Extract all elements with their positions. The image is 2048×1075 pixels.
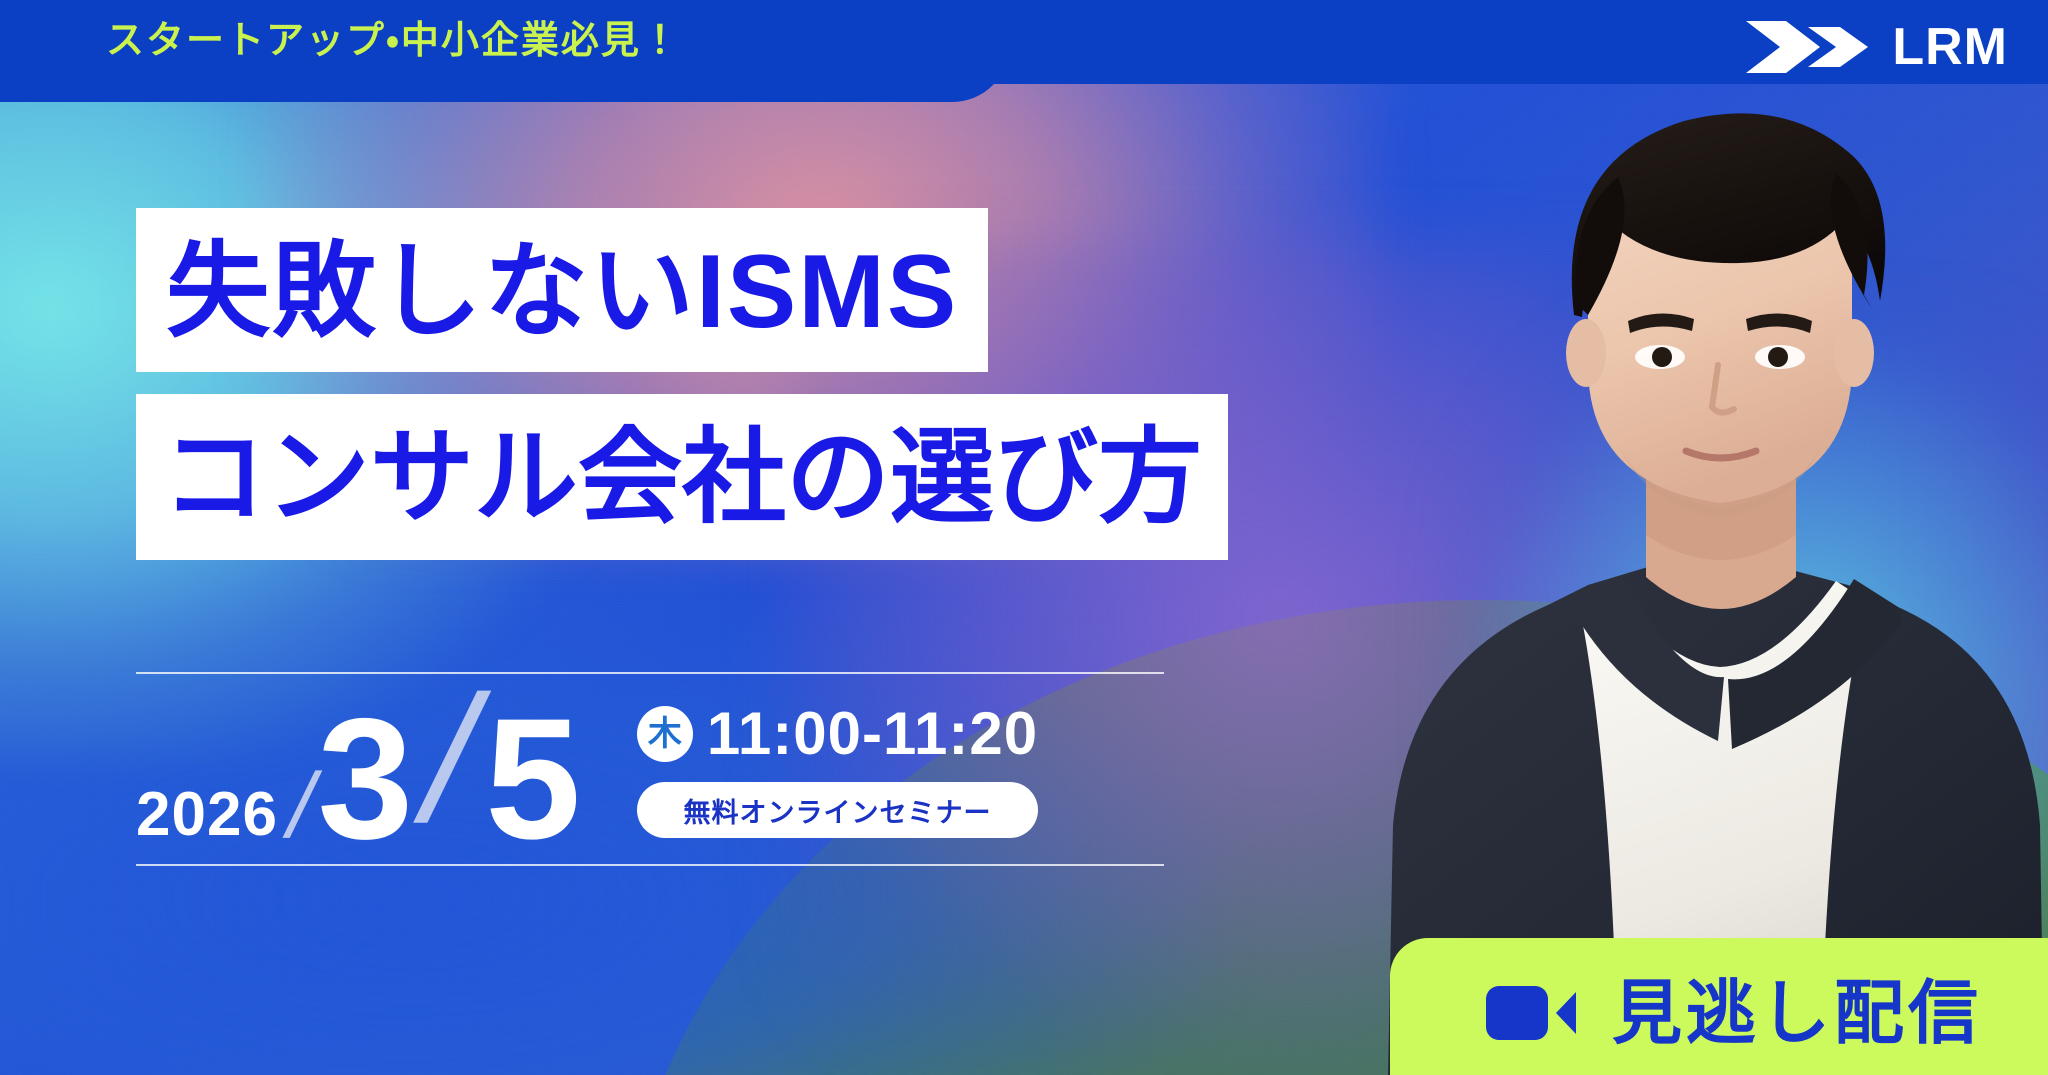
double-chevron-right-icon xyxy=(1742,21,1874,73)
eyebrow-text: スタートアップ・中小企業必見！ xyxy=(106,22,681,60)
date-day: 5 xyxy=(485,700,579,864)
replay-badge: 見逃し配信 xyxy=(1390,938,2048,1075)
date-year: 2026 xyxy=(136,784,278,864)
time-column: 木 11:00-11:20 無料オンラインセミナー xyxy=(637,704,1038,864)
date-time-block: 2026 / 3 / 5 木 11:00-11:20 無料オンラインセミナー xyxy=(136,672,1164,866)
time-range: 11:00-11:20 xyxy=(707,704,1038,764)
time-row: 木 11:00-11:20 xyxy=(637,704,1038,764)
title-line-2: コンサル会社の選び方 xyxy=(136,394,1228,560)
webinar-banner: スタートアップ・中小企業必見！ LRM 失敗しないISMS コンサル会社の選び方… xyxy=(0,0,2048,1075)
free-seminar-pill: 無料オンラインセミナー xyxy=(637,782,1038,838)
eyebrow-badge: スタートアップ・中小企業必見！ xyxy=(0,0,1010,102)
title-block: 失敗しないISMS コンサル会社の選び方 xyxy=(0,208,1228,560)
title-line-1: 失敗しないISMS xyxy=(136,208,988,372)
lrm-logo[interactable]: LRM xyxy=(1742,18,2008,76)
speaker-portrait xyxy=(1288,65,2048,1075)
replay-label: 見逃し配信 xyxy=(1612,978,1982,1048)
divider-bottom xyxy=(136,864,1164,866)
date-row: 2026 / 3 / 5 木 11:00-11:20 無料オンラインセミナー xyxy=(136,674,1164,864)
day-of-week-badge: 木 xyxy=(637,706,693,762)
video-camera-icon xyxy=(1486,982,1578,1044)
lrm-wordmark: LRM xyxy=(1892,21,2008,73)
